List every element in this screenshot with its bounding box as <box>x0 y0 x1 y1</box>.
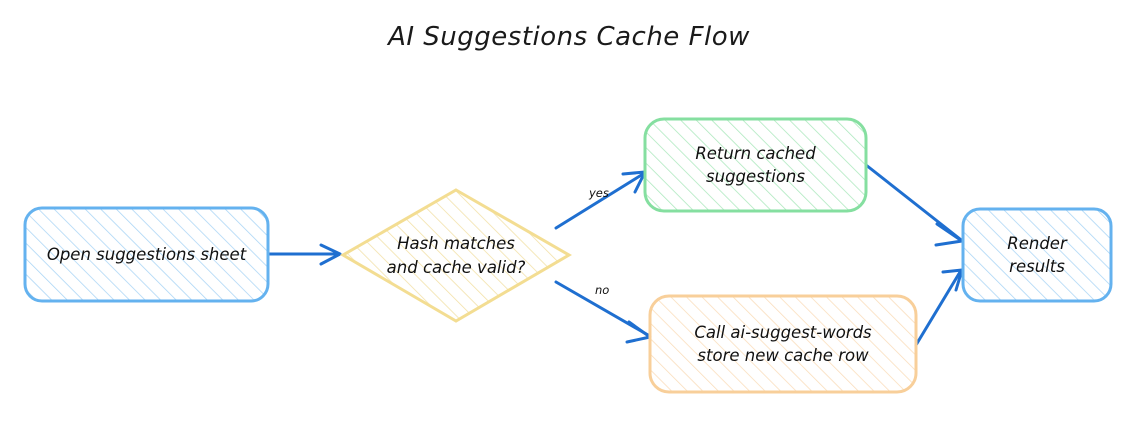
node-call-ai-suggest-words[interactable] <box>650 296 916 392</box>
node-hash-matches-decision[interactable] <box>343 190 569 321</box>
edge-open-to-decision <box>268 245 340 264</box>
edge-cached-to-render <box>866 165 962 245</box>
flowchart-graphics <box>0 0 1138 424</box>
flowchart-canvas: AI Suggestions Cache Flow <box>0 0 1138 424</box>
edge-label-no: no <box>595 283 609 297</box>
edge-decision-yes <box>556 172 645 228</box>
node-return-cached-suggestions[interactable] <box>645 119 866 211</box>
node-open-suggestions-sheet[interactable] <box>25 208 268 301</box>
node-render-results[interactable] <box>963 209 1111 301</box>
edge-call-to-render <box>916 270 962 345</box>
edge-label-yes: yes <box>589 186 609 200</box>
